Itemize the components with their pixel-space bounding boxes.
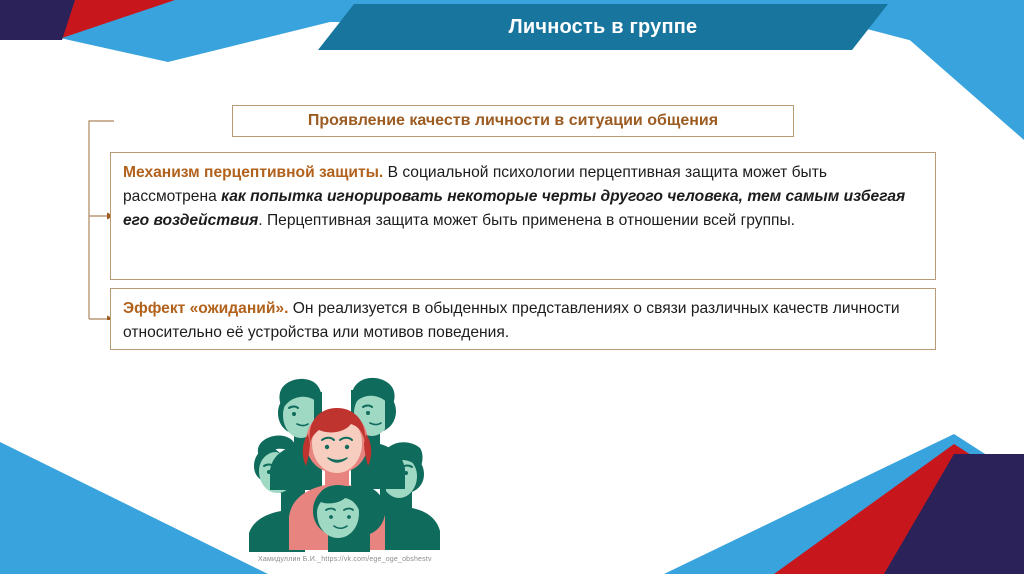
bottom-right-blue-wedge-decoration bbox=[664, 424, 1024, 574]
section-header-box: Проявление качеств личности в ситуации о… bbox=[232, 105, 794, 137]
block-lead-label: Механизм перцептивной защиты. bbox=[123, 164, 383, 181]
slide-canvas: Личность в группе Проявление качеств лич… bbox=[0, 0, 1024, 574]
bottom-right-navy-wedge-decoration bbox=[874, 454, 1024, 574]
content-paragraph: Механизм перцептивной защиты. В социальн… bbox=[123, 161, 923, 233]
block-text-second: . Перцептивная защита может быть примене… bbox=[258, 212, 795, 229]
slide-title-banner: Личность в группе bbox=[318, 4, 888, 50]
group-of-people-illustration bbox=[234, 362, 440, 552]
source-caption: Хамидуллин Б.И._https://vk.com/ege_oge_o… bbox=[258, 556, 432, 563]
content-block-perceptual-defense: Механизм перцептивной защиты. В социальн… bbox=[110, 152, 936, 280]
content-paragraph: Эффект «ожиданий». Он реализуется в обыд… bbox=[123, 297, 923, 345]
block-lead-label: Эффект «ожиданий». bbox=[123, 300, 288, 317]
top-left-navy-wedge-decoration bbox=[0, 0, 260, 130]
bottom-right-red-wedge-decoration bbox=[774, 444, 1024, 574]
content-block-expectation-effect: Эффект «ожиданий». Он реализуется в обыд… bbox=[110, 288, 936, 350]
section-header-label: Проявление качеств личности в ситуации о… bbox=[308, 112, 718, 130]
page-title: Личность в группе bbox=[509, 16, 698, 39]
